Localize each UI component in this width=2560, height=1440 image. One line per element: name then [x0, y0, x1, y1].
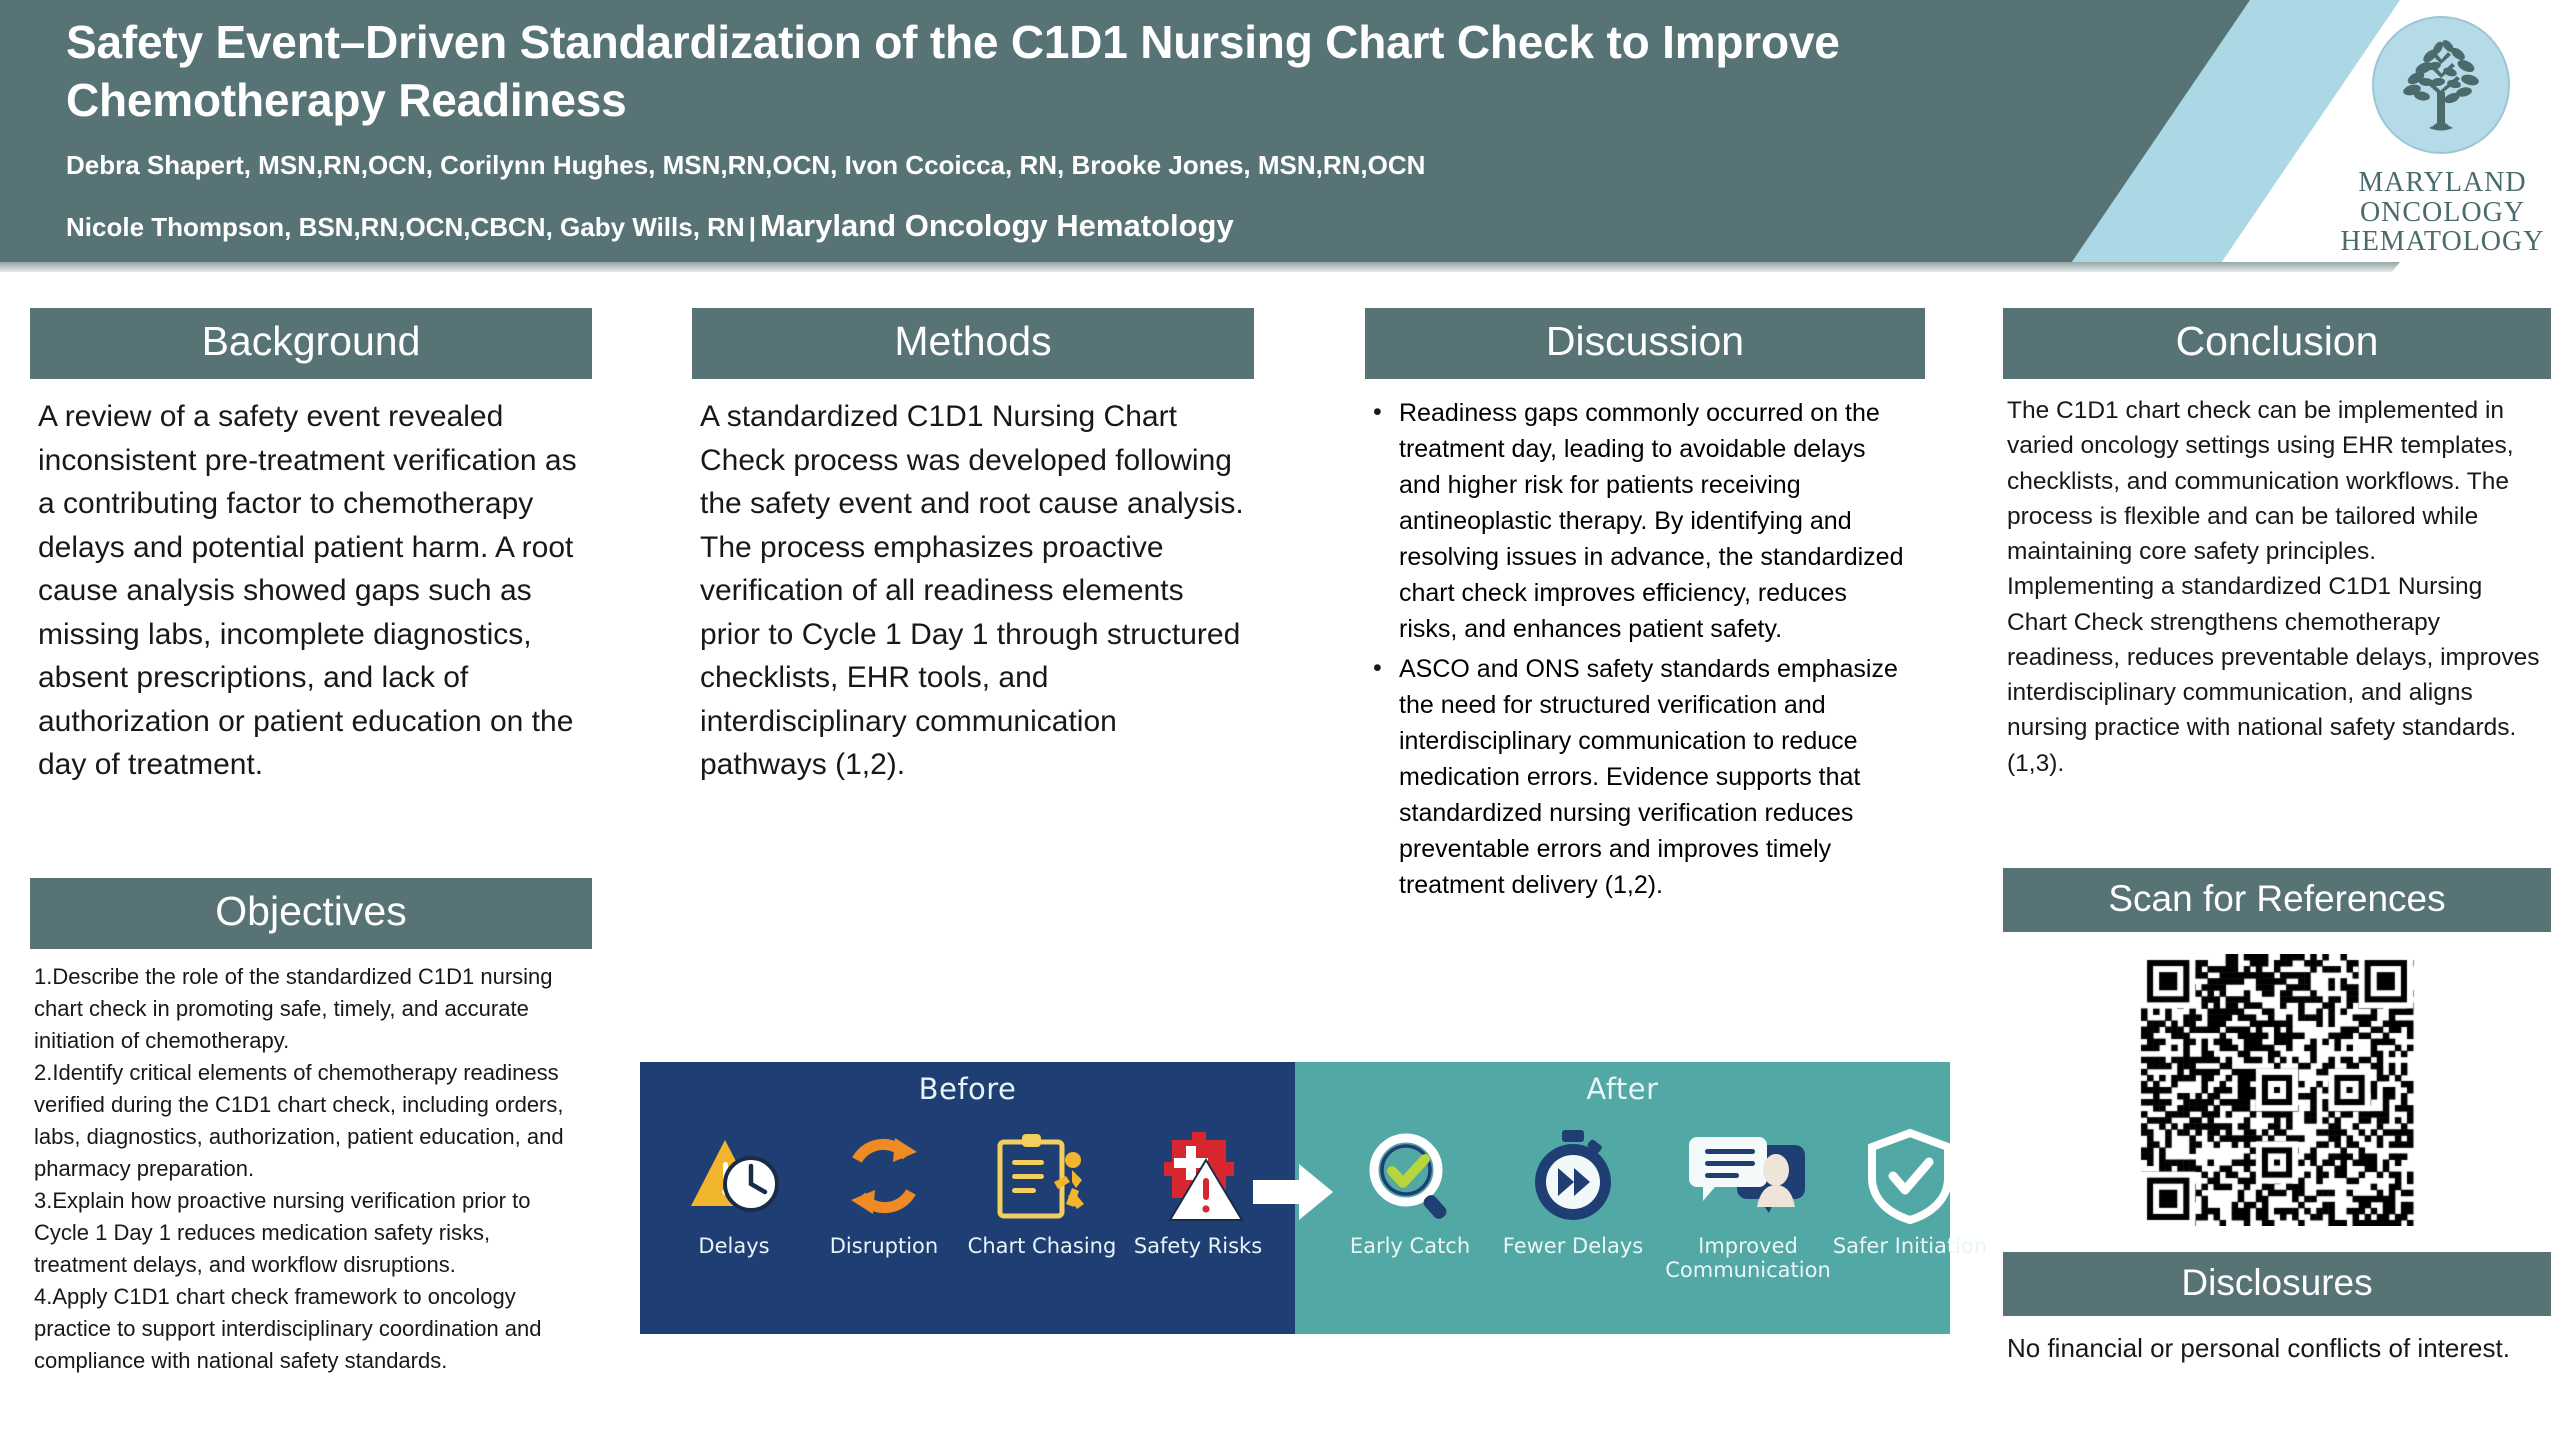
shield-check-icon: [1817, 1124, 2003, 1228]
circular-arrows-icon: [808, 1124, 960, 1228]
author-affiliation-separator: |: [745, 212, 760, 242]
section-disclosures: Disclosures No financial or personal con…: [2003, 1252, 2551, 1368]
section-scan-references: Scan for References: [2003, 868, 2551, 1226]
section-heading-objectives: Objectives: [30, 878, 592, 949]
author-line-1: Debra Shapert, MSN,RN,OCN, Corilynn Hugh…: [66, 150, 2066, 181]
section-conclusion: Conclusion The C1D1 chart check can be i…: [2003, 308, 2551, 781]
infographic-item-fewer-delays: Fewer Delays: [1485, 1124, 1661, 1259]
qr-code-icon[interactable]: [2097, 954, 2457, 1226]
infographic-caption: Safety Risks: [1118, 1235, 1278, 1259]
logo-line-2: ONCOLOGY: [2335, 198, 2550, 228]
header-bottom-shadow: [0, 262, 2400, 272]
organization-logo: MARYLAND ONCOLOGY HEMATOLOGY: [2335, 8, 2550, 268]
section-background: Background A review of a safety event re…: [30, 308, 592, 787]
tree-in-circle-icon: [2372, 16, 2510, 154]
list-item: ASCO and ONS safety standards emphasize …: [1365, 651, 1911, 903]
section-heading-methods: Methods: [692, 308, 1254, 379]
section-body-disclosures: No financial or personal conflicts of in…: [2003, 1316, 2551, 1368]
affiliation-label: Maryland Oncology Hematology: [760, 208, 1234, 243]
right-arrow-icon: [1251, 1160, 1335, 1224]
infographic-item-safer-initiation: Safer Initiation: [1817, 1124, 2003, 1259]
warning-triangle-clock-icon: [658, 1124, 810, 1228]
discussion-bullet-list: Readiness gaps commonly occurred on the …: [1365, 379, 1925, 903]
section-discussion: Discussion Readiness gaps commonly occur…: [1365, 308, 1925, 907]
section-objectives: Objectives 1.Describe the role of the st…: [30, 878, 592, 1377]
infographic-item-delays: Delays: [658, 1124, 810, 1259]
section-body-background: A review of a safety event revealed inco…: [30, 379, 592, 787]
section-body-conclusion: The C1D1 chart check can be implemented …: [2003, 379, 2551, 781]
infographic-caption: Delays: [658, 1235, 810, 1259]
list-item: Readiness gaps commonly occurred on the …: [1365, 395, 1911, 647]
section-heading-discussion: Discussion: [1365, 308, 1925, 379]
logo-wordmark: MARYLAND ONCOLOGY HEMATOLOGY: [2335, 168, 2550, 257]
qr-code-container: [2003, 932, 2551, 1226]
infographic-caption: Improved Communication: [1653, 1235, 1843, 1282]
section-heading-scan-references: Scan for References: [2003, 868, 2551, 932]
infographic-after-label: After: [1295, 1072, 1950, 1106]
before-after-infographic: Before Delays: [640, 1062, 1950, 1334]
section-methods: Methods A standardized C1D1 Nursing Char…: [692, 308, 1254, 787]
infographic-item-chart-chasing: Chart Chasing: [952, 1124, 1132, 1259]
section-heading-disclosures: Disclosures: [2003, 1252, 2551, 1316]
magnifier-check-icon: [1327, 1124, 1493, 1228]
infographic-caption: Fewer Delays: [1485, 1235, 1661, 1259]
poster-title: Safety Event–Driven Standardization of t…: [66, 14, 2046, 130]
author-line-2: Nicole Thompson, BSN,RN,OCN,CBCN, Gaby W…: [66, 207, 2066, 244]
infographic-before-label: Before: [640, 1072, 1295, 1106]
author-line-2-names: Nicole Thompson, BSN,RN,OCN,CBCN, Gaby W…: [66, 212, 745, 242]
stopwatch-fast-forward-icon: [1485, 1124, 1661, 1228]
logo-line-3: HEMATOLOGY: [2335, 227, 2550, 257]
infographic-item-improved-communication: Improved Communication: [1653, 1124, 1843, 1282]
infographic-item-early-catch: Early Catch: [1327, 1124, 1493, 1259]
infographic-item-disruption: Disruption: [808, 1124, 960, 1259]
poster-canvas: Safety Event–Driven Standardization of t…: [0, 0, 2560, 1440]
speech-bubble-person-icon: [1653, 1124, 1843, 1228]
clipboard-running-person-icon: [952, 1124, 1132, 1228]
infographic-caption: Disruption: [808, 1235, 960, 1259]
logo-line-1: MARYLAND: [2335, 168, 2550, 198]
section-body-objectives: 1.Describe the role of the standardized …: [30, 949, 592, 1377]
infographic-after-panel: After Early Catch: [1295, 1062, 1950, 1334]
poster-header: Safety Event–Driven Standardization of t…: [0, 0, 2560, 280]
section-heading-background: Background: [30, 308, 592, 379]
section-heading-conclusion: Conclusion: [2003, 308, 2551, 379]
infographic-caption: Chart Chasing: [952, 1235, 1132, 1259]
infographic-caption: Early Catch: [1327, 1235, 1493, 1259]
infographic-caption: Safer Initiation: [1817, 1235, 2003, 1259]
section-body-methods: A standardized C1D1 Nursing Chart Check …: [692, 379, 1254, 787]
infographic-before-panel: Before Delays: [640, 1062, 1295, 1334]
